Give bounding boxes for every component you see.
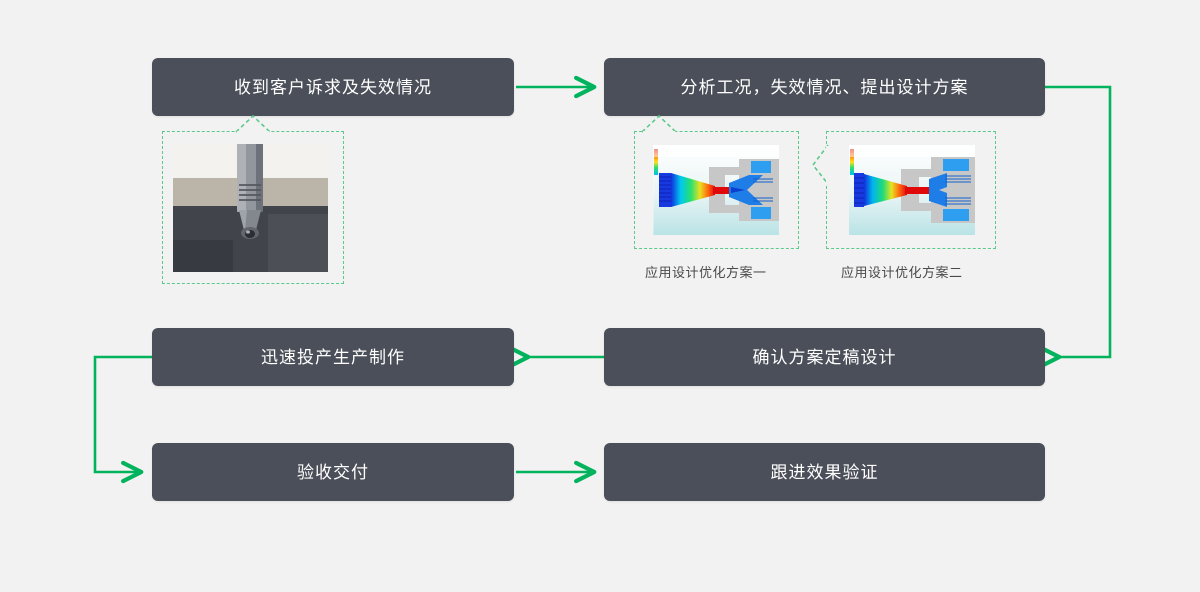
cfd-option-2-caption: 应用设计优化方案二 [841,262,963,281]
connector-produce-to-deliver [95,357,152,472]
connector-analyze-to-confirm [1045,87,1110,357]
callout-notch-left-icon [811,145,829,185]
flow-node-deliver[interactable]: 验收交付 [152,443,514,501]
flow-node-analyze[interactable]: 分析工况，失效情况、提出设计方案 [604,58,1045,116]
flow-node-label: 跟进效果验证 [771,464,879,481]
flow-node-confirm[interactable]: 确认方案定稿设计 [604,328,1045,386]
flow-node-receive[interactable]: 收到客户诉求及失效情况 [152,58,514,116]
flow-node-label: 分析工况，失效情况、提出设计方案 [681,79,969,96]
failure-photo-image [173,144,328,272]
callout-notch-up-icon [236,115,270,133]
callout-notch-up-icon [642,115,676,133]
flow-node-label: 迅速投产生产制作 [261,349,405,366]
flow-node-label: 收到客户诉求及失效情况 [234,79,432,96]
flow-node-produce[interactable]: 迅速投产生产制作 [152,328,514,386]
cfd-option-1-caption: 应用设计优化方案一 [645,262,767,281]
flow-node-label: 确认方案定稿设计 [753,349,897,366]
flowchart-canvas: 收到客户诉求及失效情况 分析工况，失效情况、提出设计方案 迅速投产生产制作 确认… [0,0,1200,592]
flow-node-followup[interactable]: 跟进效果验证 [604,443,1045,501]
cfd-option-2-image [849,145,975,235]
flow-node-label: 验收交付 [297,464,369,481]
cfd-option-1-image [653,145,779,235]
